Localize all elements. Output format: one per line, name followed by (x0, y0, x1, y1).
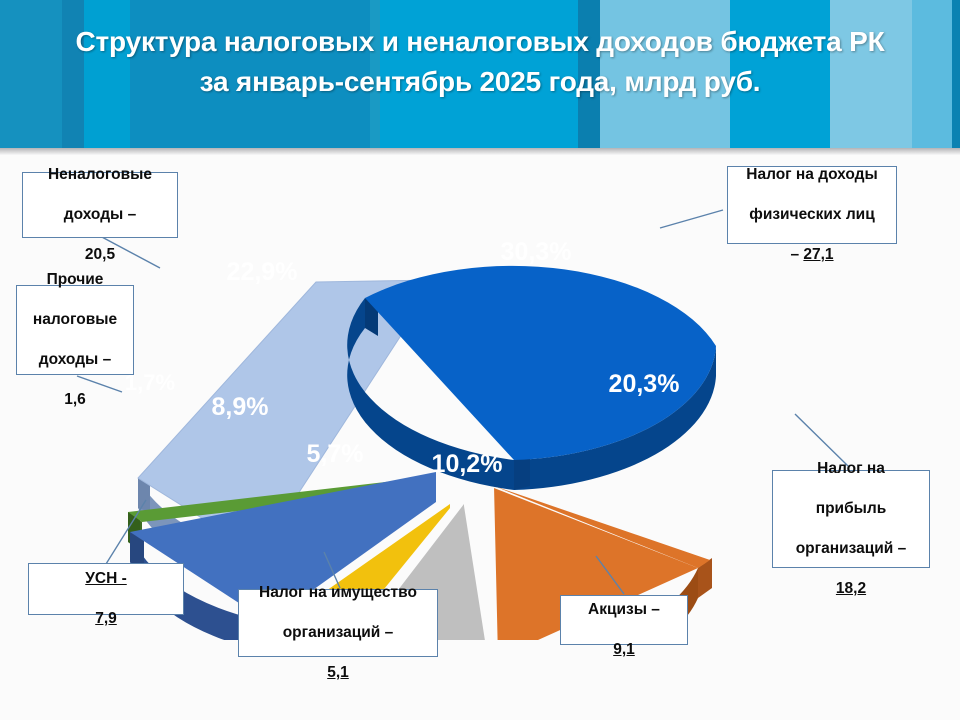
callout-property-tax[interactable]: Налог на имущество организаций – 5,1 (238, 589, 438, 657)
slice-pct-ndfl: 30,3% (501, 238, 572, 266)
callout-nontax[interactable]: Неналоговые доходы – 20,5 (22, 172, 178, 238)
slice-pct-excise: 10,2% (432, 450, 503, 478)
callout-profit-tax-line1: Налог на (817, 460, 885, 477)
page-title: Структура налоговых и неналоговых доходо… (0, 22, 960, 102)
callout-usn[interactable]: УСН - 7,9 (28, 563, 184, 615)
callout-profit-tax-value: 18,2 (836, 580, 866, 597)
slice-pct-usn: 8,9% (212, 393, 269, 421)
slide-root: Структура налоговых и неналоговых доходо… (0, 0, 960, 720)
callout-ndfl-dash: – (790, 246, 803, 263)
slice-pct-property-tax: 5,7% (307, 440, 364, 468)
slice-pct-profit-tax: 20,3% (609, 370, 680, 398)
callout-nontax-line1: Неналоговые (48, 166, 152, 183)
callout-ndfl[interactable]: Налог на доходы физических лиц – 27,1 (727, 166, 897, 244)
callout-property-tax-line2: организаций – (283, 624, 394, 641)
callout-ndfl-value: 27,1 (803, 246, 833, 263)
callout-other-tax-value: 1,6 (64, 391, 86, 408)
callout-profit-tax[interactable]: Налог на прибыль организаций – 18,2 (772, 470, 930, 568)
callout-other-tax-line1: Прочие (47, 271, 104, 288)
callout-ndfl-line2: физических лиц (749, 206, 874, 223)
slice-pct-nontax: 22,9% (227, 258, 298, 286)
callout-other-tax-line2: налоговые (33, 311, 117, 328)
callout-ndfl-line1: Налог на доходы (746, 166, 877, 183)
callout-property-tax-line1: Налог на имущество (259, 584, 417, 601)
callout-usn-line1: УСН - (85, 570, 127, 587)
title-banner: Структура налоговых и неналоговых доходо… (0, 0, 960, 148)
callout-excise-value: 9,1 (613, 641, 635, 658)
callout-excise-line1: Акцизы – (588, 601, 660, 618)
callout-other-tax-line3: доходы – (39, 351, 111, 368)
callout-property-tax-value: 5,1 (327, 664, 349, 681)
callout-excise[interactable]: Акцизы – 9,1 (560, 595, 688, 645)
callout-nontax-value: 20,5 (85, 246, 115, 263)
callout-usn-value: 7,9 (95, 610, 117, 627)
callout-profit-tax-line2: прибыль (816, 500, 887, 517)
callout-other-tax[interactable]: Прочие налоговые доходы – 1,6 (16, 285, 134, 375)
callout-nontax-line2: доходы – (64, 206, 136, 223)
callout-profit-tax-line3: организаций – (796, 540, 907, 557)
